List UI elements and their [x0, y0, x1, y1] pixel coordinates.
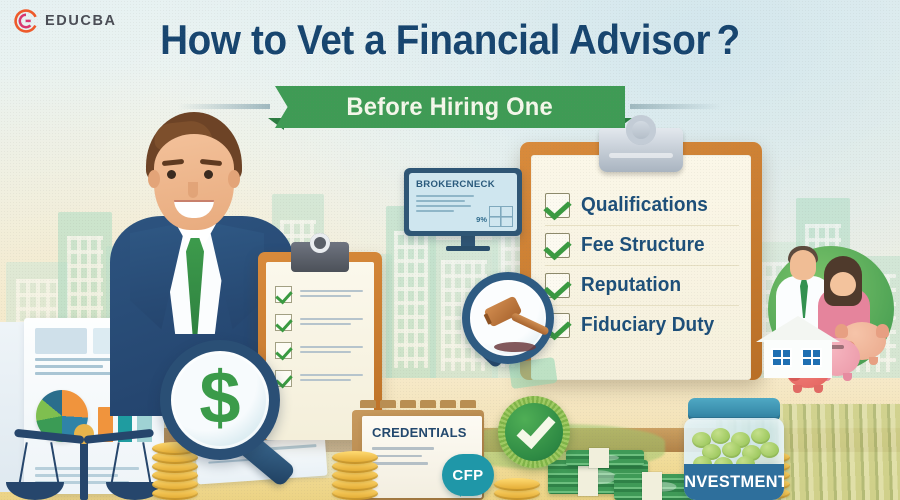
educba-circle-e-logo-icon — [14, 9, 38, 33]
family-house-savings-scene — [760, 228, 900, 396]
monitor-grid-icon — [489, 206, 513, 227]
scales-string — [18, 442, 27, 486]
advisor-eye — [204, 170, 213, 179]
monitor-screen-title: BROKERCNECK — [416, 179, 510, 190]
checklist-item-label: Qualifications — [581, 194, 708, 217]
blank-line-group — [300, 290, 366, 300]
magnifier-lens — [462, 272, 554, 364]
scales-of-justice-icon — [10, 420, 160, 500]
checklist-item-label: Fee Structure — [581, 234, 705, 257]
gavel-handle — [510, 312, 550, 336]
clipboard-clip-small — [291, 242, 349, 272]
page-title-question-mark: ? — [717, 16, 740, 63]
checklist-item-label: Fiduciary Duty — [581, 314, 714, 337]
checkmark-icon — [516, 409, 555, 449]
jar-label: INVESTMENT — [684, 464, 784, 500]
blank-line-group — [300, 318, 366, 328]
folder-tabs — [360, 400, 476, 408]
checklist-row[interactable]: Fiduciary Duty — [545, 305, 739, 345]
gavel-sound-block — [494, 342, 536, 352]
page-title-main: How to Vet a Financial Advisor — [160, 16, 710, 63]
page-title: How to Vet a Financial Advisor? — [36, 16, 864, 64]
gavel-head — [484, 296, 523, 328]
scales-string — [50, 442, 59, 486]
monitor-screen: BROKERCNECK 9% — [404, 168, 522, 236]
advisor-ear — [148, 170, 160, 188]
magnifier-gavel-icon — [462, 272, 572, 390]
brokercheck-monitor: BROKERCNECK 9% — [404, 168, 532, 256]
subtitle-ribbon: Before Hiring One — [275, 86, 625, 128]
house-roof — [756, 316, 840, 342]
checklist-item-label: Reputation — [581, 274, 681, 297]
advisor-ear — [228, 170, 240, 188]
jar-lid — [688, 398, 780, 420]
cash-stack — [566, 450, 644, 466]
ribbon-line-right — [630, 104, 722, 109]
jar-body: INVESTMENT — [684, 418, 784, 500]
monitor-stand — [461, 236, 475, 246]
checkbox-checked-icon[interactable] — [545, 233, 570, 258]
checklist-row[interactable]: Reputation — [545, 265, 739, 305]
cfp-badge-label: CFP — [452, 467, 483, 484]
scales-pan-left — [6, 482, 64, 500]
gold-coin-stack — [332, 454, 382, 500]
cfp-badge: CFP — [442, 454, 494, 496]
checklist-row-blank[interactable] — [275, 286, 366, 303]
investment-jar: INVESTMENT — [680, 398, 788, 500]
checkbox-checked-icon[interactable] — [545, 193, 570, 218]
subtitle-text: Before Hiring One — [347, 93, 553, 122]
checklist-row-blank[interactable] — [275, 314, 366, 331]
seal-inner-circle — [505, 403, 563, 461]
checklist-row[interactable]: Qualifications — [545, 185, 739, 225]
checkbox-checked-icon[interactable] — [275, 286, 292, 303]
credentials-title: CREDENTIALS — [372, 425, 472, 440]
advisor-nose — [188, 182, 198, 198]
advisor-eye — [167, 170, 176, 179]
ribbon-line-left — [178, 104, 270, 109]
father-figure-head — [790, 250, 816, 280]
monitor-percent-label: 9% — [476, 215, 487, 224]
house-icon — [760, 316, 836, 378]
infographic-canvas: EDUCBA How to Vet a Financial Advisor? B… — [0, 0, 900, 500]
scales-beam — [14, 436, 154, 444]
gold-coin-stack — [494, 478, 538, 500]
scales-string — [143, 442, 152, 486]
magnifier-lens: $ — [160, 340, 280, 460]
monitor-content: BROKERCNECK 9% — [409, 173, 517, 231]
checklist-row[interactable]: Fee Structure — [545, 225, 739, 265]
house-window — [801, 348, 822, 367]
magnifier-dollar-icon: $ — [160, 340, 310, 490]
checkbox-checked-icon[interactable] — [275, 314, 292, 331]
mother-figure-hair — [824, 256, 862, 306]
monitor-base — [446, 246, 490, 251]
clipboard-metal-clip — [599, 128, 683, 172]
jar-label-text: INVESTMENT — [684, 472, 784, 492]
house-window — [771, 348, 792, 367]
scales-string — [111, 442, 120, 486]
dollar-sign-symbol: $ — [199, 361, 240, 435]
verified-check-seal-icon — [498, 396, 570, 468]
